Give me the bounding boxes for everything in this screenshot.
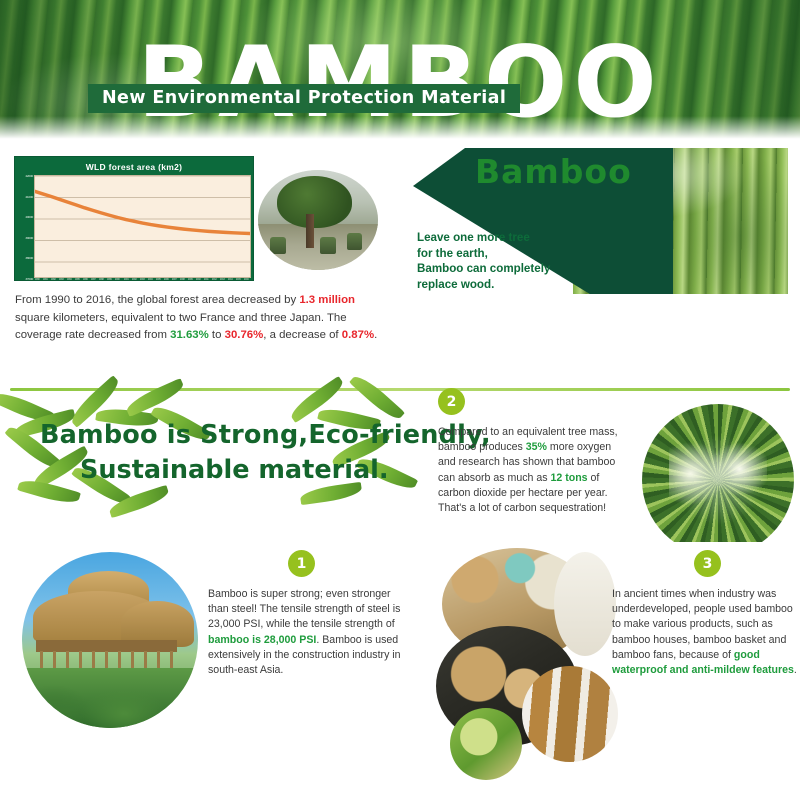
point-2-highlight-co2: 12 tons [550, 472, 587, 484]
tree-trunk [306, 214, 314, 248]
chart-x-tick: 2002 [132, 279, 137, 287]
chart-x-tick: 1991 [43, 279, 48, 287]
replace-wood-panel: Bamboo Leave one more tree for the earth… [413, 148, 788, 294]
chart-x-tick: 1998 [99, 279, 104, 287]
chart-x-tick: 1990 [35, 279, 40, 287]
paragraph-part-5: . [374, 329, 377, 341]
paragraph-part-3: to [209, 329, 225, 341]
garden-hedge [22, 668, 198, 728]
chart-x-tick: 1993 [59, 279, 64, 287]
deforestation-section: WLD forest area (km2) 420004100040000390… [0, 142, 800, 382]
chart-x-tick: 1996 [83, 279, 88, 287]
benefits-headline-section: Bamboo is Strong,Eco-friendly, Sustainab… [0, 382, 800, 542]
tree-stump [320, 237, 336, 254]
chart-y-tick: 37000 [25, 278, 33, 281]
point-1-text: Bamboo is super strong; even stronger th… [208, 587, 404, 678]
chart-x-tick: 2016 [244, 279, 249, 287]
chart-x-tick: 2007 [172, 279, 177, 287]
bamboo-shoot-photo [450, 708, 522, 780]
chart-y-tick: 41000 [25, 196, 33, 199]
chart-title: WLD forest area (km2) [17, 159, 251, 175]
header-banner: BAMBOO New Environmental Protection Mate… [0, 0, 800, 142]
panel-tagline: Leave one more tree for the earth, Bambo… [417, 230, 550, 292]
chart-x-tick: 1992 [51, 279, 56, 287]
chart-x-tick: 2004 [148, 279, 153, 287]
point-2-block: 2 Compared to an equivalent tree mass, b… [438, 388, 628, 516]
header-fade-overlay [0, 116, 800, 142]
point-3-block: 3 In ancient times when industry was und… [612, 550, 798, 678]
chart-series-line [35, 176, 250, 278]
tagline-line-1: Leave one more tree [417, 230, 550, 246]
forest-area-chart: WLD forest area (km2) 420004100040000390… [14, 156, 254, 281]
chart-x-tick: 2008 [180, 279, 185, 287]
tree-stump [270, 237, 286, 254]
chart-x-tick: 1999 [107, 279, 112, 287]
bamboo-fan-photo [554, 552, 616, 656]
chart-y-axis: 420004100040000390003800037000 [17, 175, 34, 278]
paragraph-part-4: , a decrease of [263, 329, 342, 341]
highlight-coverage-start: 31.63% [170, 329, 209, 341]
chart-x-tick: 2012 [212, 279, 217, 287]
chart-x-tick: 1994 [67, 279, 72, 287]
bamboo-house-photo [22, 552, 198, 728]
tagline-line-4: replace wood. [417, 277, 550, 293]
chart-x-tick: 2010 [196, 279, 201, 287]
chart-x-tick: 2003 [140, 279, 145, 287]
chart-x-axis: 1990199119921993199419951996199719981999… [34, 278, 251, 287]
highlight-forest-loss: 1.3 million [299, 294, 355, 306]
paragraph-part-1: From 1990 to 2016, the global forest are… [15, 294, 299, 306]
chart-x-tick: 2001 [124, 279, 129, 287]
chart-x-tick: 2015 [236, 279, 241, 287]
highlight-coverage-delta: 0.87% [342, 329, 374, 341]
chart-y-tick: 38000 [25, 257, 33, 260]
chart-x-tick: 1995 [75, 279, 80, 287]
chart-plot-area [34, 175, 251, 278]
panel-bamboo-wordmark: Bamboo [475, 152, 632, 191]
highlight-coverage-end: 30.76% [225, 329, 264, 341]
chart-x-tick: 2013 [220, 279, 225, 287]
bamboo-poles-photo [522, 666, 618, 762]
chart-x-tick: 2000 [115, 279, 120, 287]
chart-x-tick: 2014 [228, 279, 233, 287]
point-1-highlight-psi: bamboo is 28,000 PSI [208, 634, 316, 646]
point-1-badge: 1 [288, 550, 315, 577]
tagline-line-2: for the earth, [417, 246, 550, 262]
green-divider-rule [10, 388, 790, 391]
point-2-text: Compared to an equivalent tree mass, bam… [438, 425, 628, 516]
bamboo-products-collage [436, 548, 618, 760]
chart-y-tick: 40000 [25, 216, 33, 219]
chart-y-tick: 42000 [25, 175, 33, 178]
point-3-part-1: In ancient times when industry was under… [612, 588, 793, 661]
chart-x-tick: 2006 [164, 279, 169, 287]
lone-tree-photo [258, 170, 378, 270]
point-1-block: 1 Bamboo is super strong; even stronger … [208, 550, 404, 678]
tree-stump [347, 233, 363, 250]
point-2-badge: 2 [438, 388, 465, 415]
point-3-text: In ancient times when industry was under… [612, 587, 798, 678]
chart-x-tick: 2005 [156, 279, 161, 287]
point-1-part-1: Bamboo is super strong; even stronger th… [208, 588, 400, 630]
header-subtitle-banner: New Environmental Protection Material [88, 84, 520, 113]
chart-x-tick: 2009 [188, 279, 193, 287]
point-3-badge: 3 [694, 550, 721, 577]
forest-canopy-world-map-photo [642, 404, 794, 556]
bamboo-leaf-icon [299, 482, 362, 505]
point-2-highlight-oxygen: 35% [526, 441, 547, 453]
tagline-line-3: Bamboo can completely [417, 261, 550, 277]
chart-y-tick: 39000 [25, 237, 33, 240]
points-1-and-3-section: 1 Bamboo is super strong; even stronger … [0, 542, 800, 800]
deforestation-paragraph: From 1990 to 2016, the global forest are… [15, 292, 385, 345]
point-3-part-2: . [794, 664, 797, 676]
chart-body: 420004100040000390003800037000 [17, 175, 251, 278]
chart-x-tick: 1997 [91, 279, 96, 287]
chart-x-tick: 2011 [204, 279, 209, 287]
